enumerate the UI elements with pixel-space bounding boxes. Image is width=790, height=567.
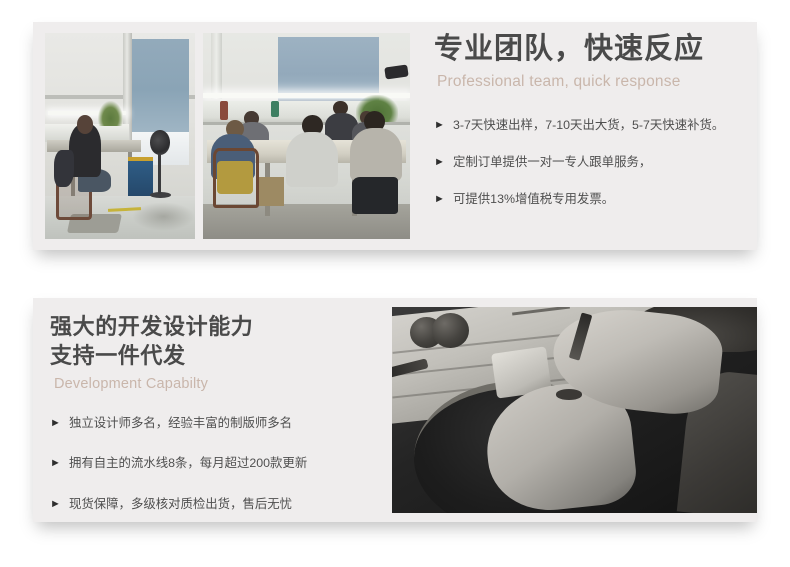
team-heading-cn: 专业团队，快速反应 xyxy=(434,33,746,65)
list-item: ► 可提供13%增值税专用发票。 xyxy=(434,192,746,207)
list-item-text: 现货保障，多级核对质检出货，售后无忧 xyxy=(69,497,292,511)
list-item: ► 独立设计师多名，经验丰富的制版师多名 xyxy=(50,416,380,431)
worker-legs xyxy=(352,177,398,214)
development-heading-en: Development Capabilty xyxy=(54,376,380,392)
machine xyxy=(128,161,154,196)
triangle-right-icon: ► xyxy=(434,192,445,207)
workshop-seated-workers-photo xyxy=(203,33,410,239)
workshop-bench-worker-photo xyxy=(45,33,195,239)
list-item-text: 3-7天快速出样，7-10天出大货，5-7天快速补货。 xyxy=(453,118,724,132)
pillar xyxy=(211,33,221,99)
team-heading-en: Professional team, quick response xyxy=(437,73,746,91)
development-bullet-list: ► 独立设计师多名，经验丰富的制版师多名 ► 拥有自主的流水线8条，每月超过20… xyxy=(50,416,380,513)
team-bullet-list: ► 3-7天快速出样，7-10天出大货，5-7天快速补货。 ► 定制订单提供一对… xyxy=(434,118,746,207)
hanging-cloth xyxy=(54,150,74,187)
plant xyxy=(98,101,124,126)
list-item-text: 可提供13%增值税专用发票。 xyxy=(453,192,614,206)
bottle xyxy=(271,101,278,117)
photo-content xyxy=(45,33,195,239)
worker-body xyxy=(350,128,402,182)
development-heading-cn-line1: 强大的开发设计能力 xyxy=(50,314,253,339)
worker-body xyxy=(286,132,338,188)
development-heading-cn: 强大的开发设计能力 支持一件代发 xyxy=(50,312,380,371)
promo-page: 专业团队，快速反应 Professional team, quick respo… xyxy=(0,0,790,567)
triangle-right-icon: ► xyxy=(50,497,61,512)
wooden-box xyxy=(259,177,284,206)
bottle xyxy=(220,101,228,120)
list-item-text: 定制订单提供一对一专人跟单服务， xyxy=(453,155,651,169)
worker-head xyxy=(77,115,94,134)
development-heading-cn-line2: 支持一件代发 xyxy=(50,343,186,368)
development-section-text: 强大的开发设计能力 支持一件代发 Development Capabilty ►… xyxy=(50,312,380,512)
photo-content xyxy=(203,33,410,239)
window-blind xyxy=(131,39,190,134)
team-section-text: 专业团队，快速反应 Professional team, quick respo… xyxy=(434,33,746,207)
triangle-right-icon: ► xyxy=(434,155,445,170)
list-item: ► 拥有自主的流水线8条，每月超过200款更新 xyxy=(50,456,380,471)
list-item-text: 拥有自主的流水线8条，每月超过200款更新 xyxy=(69,456,307,470)
list-item: ► 3-7天快速出样，7-10天出大货，5-7天快速补货。 xyxy=(434,118,746,133)
list-item: ► 现货保障，多级核对质检出货，售后无忧 xyxy=(50,497,380,512)
craftsman-hands-jewelry-photo xyxy=(392,307,757,513)
fan-pole xyxy=(158,152,161,193)
floor-stain xyxy=(132,202,195,231)
window-blind xyxy=(278,37,379,101)
jewelry-ring xyxy=(556,389,582,399)
triangle-right-icon: ► xyxy=(50,456,61,471)
development-section-panel: 强大的开发设计能力 支持一件代发 Development Capabilty ►… xyxy=(33,298,757,522)
list-item-text: 独立设计师多名，经验丰富的制版师多名 xyxy=(69,416,292,430)
team-section-panel: 专业团队，快速反应 Professional team, quick respo… xyxy=(33,22,757,250)
tool-ball xyxy=(432,313,469,348)
triangle-right-icon: ► xyxy=(434,118,445,133)
triangle-right-icon: ► xyxy=(50,416,61,431)
fan-head xyxy=(150,130,170,155)
stool xyxy=(217,161,252,194)
photo-content xyxy=(392,307,757,513)
list-item: ► 定制订单提供一对一专人跟单服务， xyxy=(434,155,746,170)
